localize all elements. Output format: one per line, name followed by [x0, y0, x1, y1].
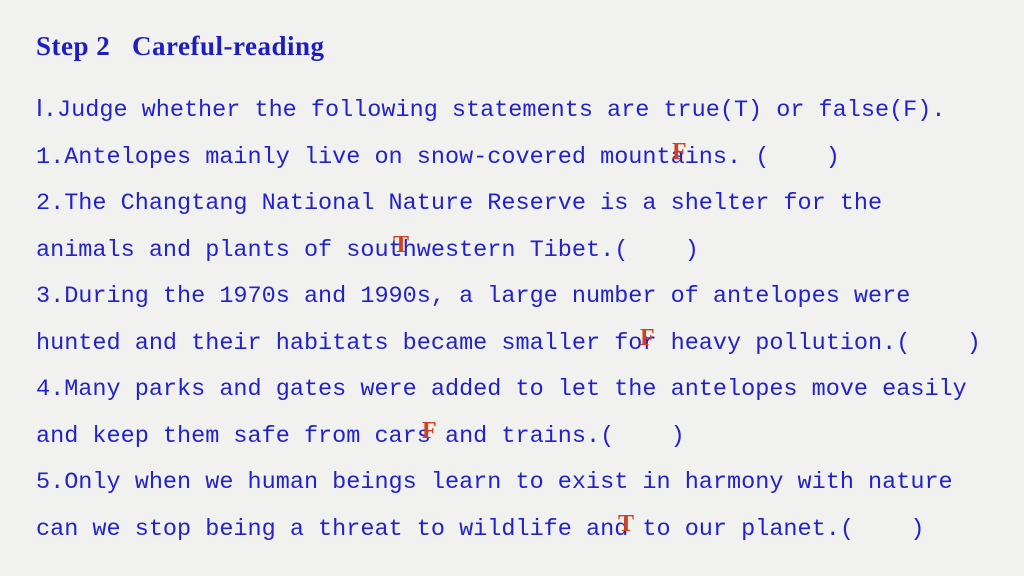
slide-canvas: Step 2 Careful-reading Ⅰ.Judge whether t…	[0, 0, 1024, 576]
statement-4-line-2: and keep them safe from cars and trains.…	[36, 414, 996, 461]
reading-exercise-body: Ⅰ.Judge whether the following statements…	[36, 88, 996, 553]
page-title: Step 2 Careful-reading	[36, 31, 325, 62]
instruction-line: Ⅰ.Judge whether the following statements…	[36, 88, 996, 135]
statement-1-line-1: 1.Antelopes mainly live on snow-covered …	[36, 135, 996, 182]
statement-5-line-1: 5.Only when we human beings learn to exi…	[36, 460, 996, 507]
statement-4-line-1: 4.Many parks and gates were added to let…	[36, 367, 996, 414]
statement-3-line-2: hunted and their habitats became smaller…	[36, 321, 996, 368]
statement-5-line-2: can we stop being a threat to wildlife a…	[36, 507, 996, 554]
statement-3-line-1: 3.During the 1970s and 1990s, a large nu…	[36, 274, 996, 321]
statement-2-line-2: animals and plants of southwestern Tibet…	[36, 228, 996, 275]
statement-2-line-1: 2.The Changtang National Nature Reserve …	[36, 181, 996, 228]
